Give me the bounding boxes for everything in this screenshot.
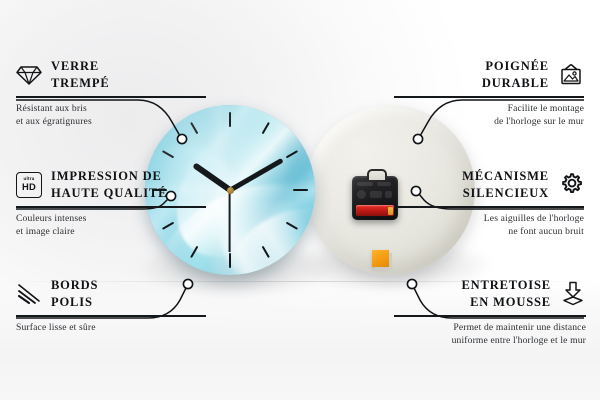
hd-icon-main-text: HD [22, 182, 36, 191]
feature-desc-line1: Résistant aux bris [16, 103, 87, 114]
feature-title: VERRE TREMPÉ [51, 58, 110, 91]
feature-description: Couleurs intenses et image claire [16, 212, 206, 239]
feature-header: MÉCANISME SILENCIEUX [394, 168, 584, 201]
feature-desc-line2: ne font aucun bruit [508, 226, 584, 237]
feature-title-line1: ENTRETOISE [461, 278, 551, 292]
feature-title: ENTRETOISE EN MOUSSE [461, 277, 551, 310]
feature-desc-line1: Les aiguilles de l'horloge [484, 213, 584, 224]
foam-spacer-icon [560, 281, 586, 307]
feature-desc-line1: Couleurs intenses [16, 213, 87, 224]
feature-divider [394, 206, 584, 208]
mechanism-detail [377, 182, 391, 186]
ultra-hd-icon: ultra HD [16, 172, 42, 198]
feature-title-line1: VERRE [51, 59, 99, 73]
feature-header: ENTRETOISE EN MOUSSE [394, 277, 586, 310]
feature-title: BORDS POLIS [51, 277, 98, 310]
feature-title-line2: SILENCIEUX [463, 186, 549, 200]
feature-mecanisme-silencieux: MÉCANISME SILENCIEUX Les aiguilles de l'… [394, 168, 584, 239]
feature-description: Les aiguilles de l'horloge ne font aucun… [394, 212, 584, 239]
battery-positive-tip [388, 207, 393, 215]
feature-title-line2: EN MOUSSE [470, 295, 551, 309]
polished-edges-icon [16, 281, 42, 307]
feature-title: IMPRESSION DE HAUTE QUALITÉ [51, 168, 167, 201]
feature-impression-haute-qualite: ultra HD IMPRESSION DE HAUTE QUALITÉ Cou… [16, 168, 206, 239]
diamond-icon [16, 62, 42, 88]
foam-spacer [372, 250, 389, 267]
hanging-frame-icon [558, 62, 584, 88]
feature-description: Surface lisse et sûre [16, 321, 206, 335]
feature-title-line1: MÉCANISME [462, 169, 549, 183]
feature-header: VERRE TREMPÉ [16, 58, 206, 91]
hanging-hook-icon [367, 169, 387, 180]
mechanism-detail [357, 190, 366, 199]
feature-description: Résistant aux bris et aux égratignures [16, 102, 206, 129]
feature-desc-line2: et aux égratignures [16, 116, 92, 127]
feature-desc-line1: Permet de maintenir une distance [453, 322, 586, 333]
feature-header: BORDS POLIS [16, 277, 206, 310]
clock-mechanism [352, 176, 398, 220]
feature-desc-line2: de l'horloge sur le mur [494, 116, 584, 127]
feature-divider [16, 96, 206, 98]
mechanism-detail [357, 182, 373, 186]
gear-icon [558, 172, 584, 198]
mechanism-detail [385, 191, 392, 198]
feature-divider [394, 96, 584, 98]
feature-desc-line2: uniforme entre l'horloge et le mur [452, 335, 586, 346]
feature-title-line2: POLIS [51, 295, 93, 309]
feature-header: ultra HD IMPRESSION DE HAUTE QUALITÉ [16, 168, 206, 201]
feature-bords-polis: BORDS POLIS Surface lisse et sûre [16, 277, 206, 334]
feature-header: POIGNÉE DURABLE [394, 58, 584, 91]
feature-title-line1: IMPRESSION DE [51, 169, 162, 183]
feature-divider [394, 315, 586, 317]
feature-desc-line1: Surface lisse et sûre [16, 322, 96, 333]
mechanism-detail [370, 191, 382, 198]
feature-description: Facilite le montage de l'horloge sur le … [394, 102, 584, 129]
feature-title: POIGNÉE DURABLE [482, 58, 549, 91]
feature-title-line1: POIGNÉE [485, 59, 549, 73]
feature-desc-line1: Facilite le montage [508, 103, 584, 114]
feature-title-line2: TREMPÉ [51, 76, 110, 90]
feature-poignee-durable: POIGNÉE DURABLE Facilite le montage de l… [394, 58, 584, 129]
feature-title-line1: BORDS [51, 278, 98, 292]
feature-desc-line2: et image claire [16, 226, 75, 237]
feature-entretoise-en-mousse: ENTRETOISE EN MOUSSE Permet de maintenir… [394, 277, 586, 348]
feature-description: Permet de maintenir une distance uniform… [394, 321, 586, 348]
feature-title: MÉCANISME SILENCIEUX [462, 168, 549, 201]
battery [356, 205, 394, 216]
feature-divider [16, 206, 206, 208]
feature-verre-trempe: VERRE TREMPÉ Résistant aux bris et aux é… [16, 58, 206, 129]
infographic-canvas: VERRE TREMPÉ Résistant aux bris et aux é… [0, 0, 600, 400]
feature-divider [16, 315, 206, 317]
feature-title-line2: HAUTE QUALITÉ [51, 186, 167, 200]
feature-title-line2: DURABLE [482, 76, 549, 90]
